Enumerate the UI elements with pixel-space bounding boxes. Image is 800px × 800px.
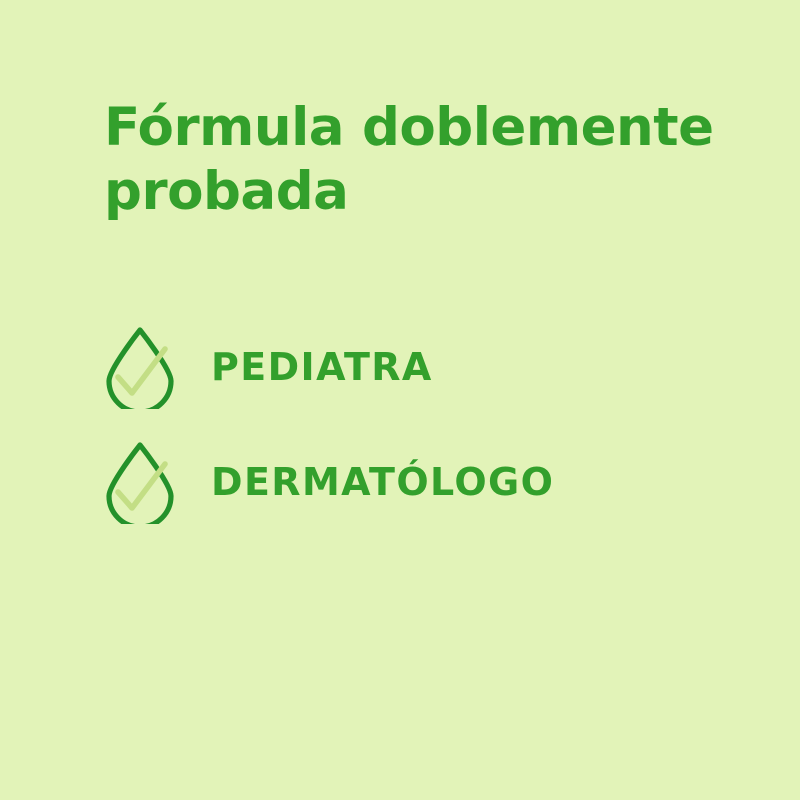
feature-list: PEDIATRA DERMATÓLOGO xyxy=(101,325,721,555)
promo-banner: Fórmula doblemente probada PEDIATRA DERM… xyxy=(0,0,800,800)
list-item: DERMATÓLOGO xyxy=(101,440,721,524)
water-drop-check-icon xyxy=(101,440,179,524)
feature-label-pediatra: PEDIATRA xyxy=(211,348,433,386)
list-item: PEDIATRA xyxy=(101,325,721,409)
water-drop-check-icon xyxy=(101,325,179,409)
page-title: Fórmula doblemente probada xyxy=(104,96,744,224)
feature-label-dermatologo: DERMATÓLOGO xyxy=(211,463,554,501)
